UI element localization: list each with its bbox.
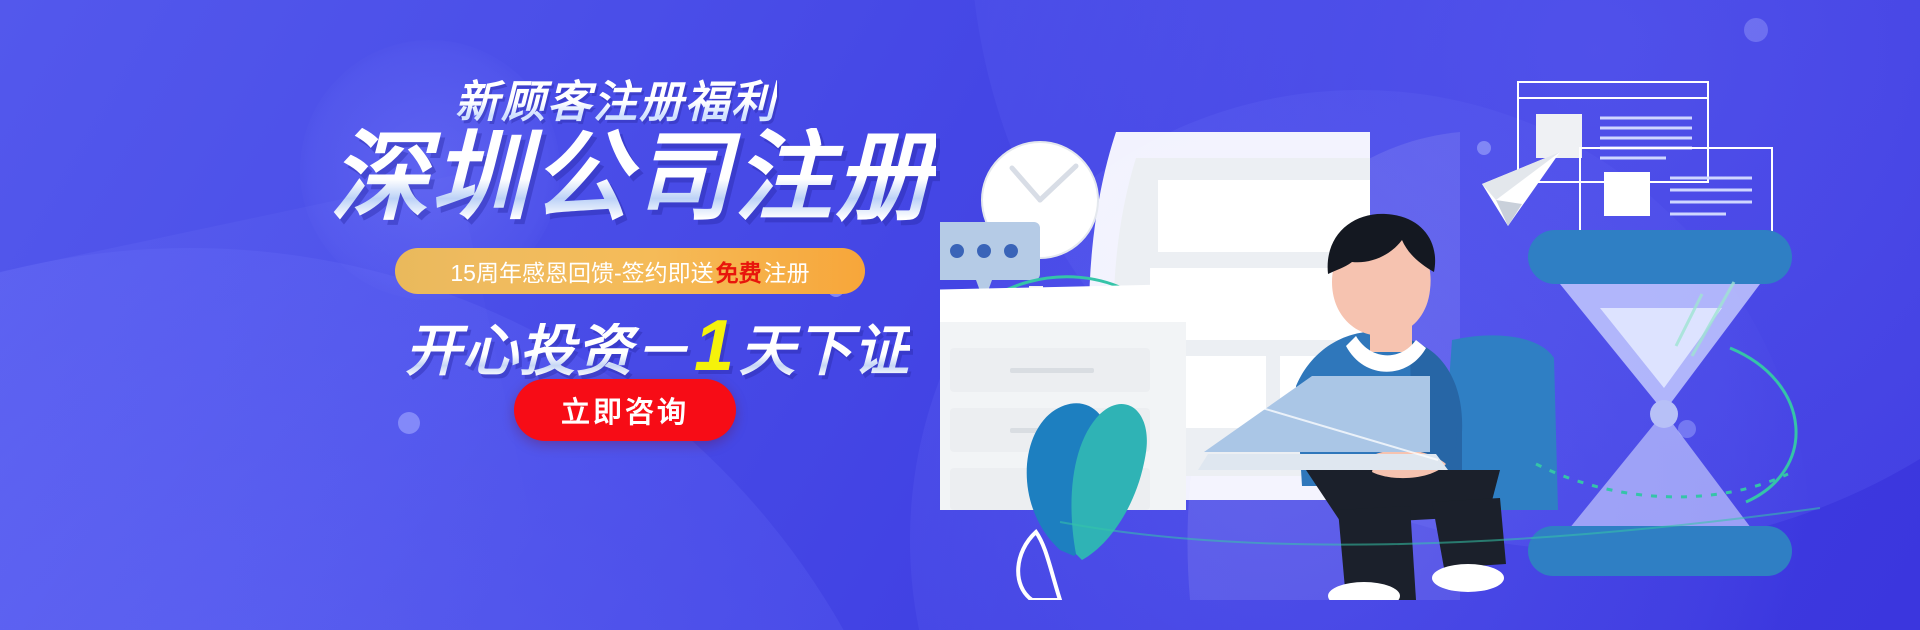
page-title: 深圳公司注册 (330, 128, 936, 226)
paper-plane-icon (1482, 152, 1560, 226)
tagline: 开心投资－ 1 天下证 (405, 310, 910, 382)
promo-badge: 15周年感恩回馈-签约即送 免费 注册 (395, 248, 865, 294)
eyebrow-text: 新顾客注册福利 (455, 66, 777, 130)
consult-now-button[interactable]: 立即咨询 (514, 379, 736, 441)
promo-badge-highlight: 免费 (714, 254, 764, 288)
tagline-number: 1 (690, 310, 739, 382)
plant-icon (1018, 403, 1147, 600)
hourglass-icon (1528, 230, 1792, 576)
document-card-icon (1580, 148, 1772, 244)
hero-illustration (940, 40, 1920, 600)
tagline-before: 开心投资－ (405, 323, 690, 379)
promo-badge-prefix: 15周年感恩回馈-签约即送 (450, 254, 713, 288)
decor-dot (1744, 18, 1768, 42)
tagline-after: 天下证 (739, 323, 910, 379)
promo-banner: 新顾客注册福利 深圳公司注册 15周年感恩回馈-签约即送 免费 注册 开心投资－… (0, 0, 1920, 630)
promo-badge-suffix: 注册 (764, 254, 810, 288)
copy-block: 新顾客注册福利 深圳公司注册 15周年感恩回馈-签约即送 免费 注册 开心投资－… (0, 0, 960, 630)
